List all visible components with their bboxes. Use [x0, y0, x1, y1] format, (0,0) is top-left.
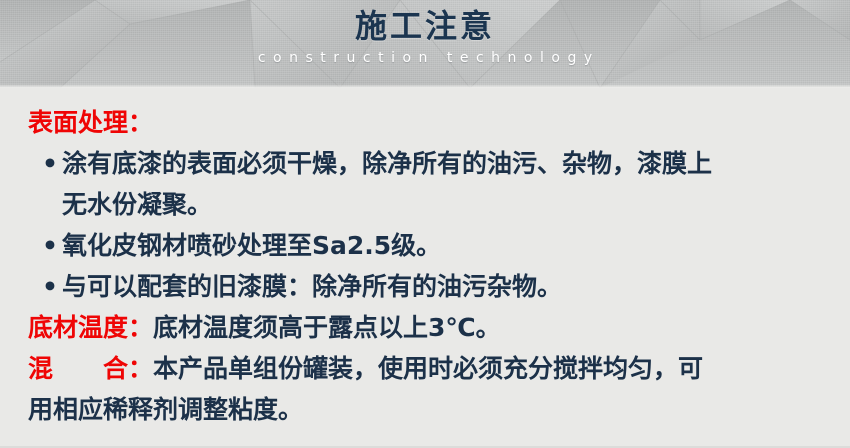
header-banner: 施工注意 construction technology [0, 0, 850, 88]
list-item: • 与可以配套的旧漆膜：除净所有的油污杂物。 [28, 266, 828, 307]
section-label-mixing-part2: 合： [103, 354, 153, 383]
list-item-continuation: 无水份凝聚。 [28, 184, 828, 225]
content-body: 表面处理： • 涂有底漆的表面必须干燥，除净所有的油污、杂物，漆膜上 无水份凝聚… [0, 88, 850, 448]
list-item-text-wrap: 无水份凝聚。 [62, 190, 212, 219]
list-item-text: 氧化皮钢材喷砂处理至Sa2.5级。 [62, 231, 441, 260]
banner-text-group: 施工注意 construction technology [0, 0, 850, 88]
list-item: • 氧化皮钢材喷砂处理至Sa2.5级。 [28, 225, 828, 266]
bullet-dot-icon: • [42, 143, 58, 184]
list-item: • 涂有底漆的表面必须干燥，除净所有的油污、杂物，漆膜上 [28, 143, 828, 184]
bullet-dot-icon: • [42, 225, 58, 266]
section-surface-treatment: 表面处理： • 涂有底漆的表面必须干燥，除净所有的油污、杂物，漆膜上 无水份凝聚… [28, 102, 828, 307]
banner-subtitle: construction technology [250, 50, 599, 67]
section-label-mixing-part1: 混 [28, 354, 53, 383]
section-body-mixing-line2: 用相应稀释剂调整粘度。 [28, 395, 303, 424]
section-label-substrate-temperature: 底材温度： [28, 313, 153, 342]
list-item-text: 与可以配套的旧漆膜：除净所有的油污杂物。 [62, 272, 562, 301]
banner-title: 施工注意 [355, 9, 495, 45]
section-mixing-line-1: 混合：本产品单组份罐装，使用时必须充分搅拌均匀，可 [28, 348, 828, 389]
section-mixing-line-2: 用相应稀释剂调整粘度。 [28, 389, 828, 430]
section-substrate-temperature: 底材温度：底材温度须高于露点以上3℃。 [28, 307, 828, 348]
section-body-substrate-temperature: 底材温度须高于露点以上3℃。 [153, 313, 501, 342]
section-mixing: 混合：本产品单组份罐装，使用时必须充分搅拌均匀，可 用相应稀释剂调整粘度。 [28, 348, 828, 430]
list-item-text: 涂有底漆的表面必须干燥，除净所有的油污、杂物，漆膜上 [62, 149, 712, 178]
bullet-dot-icon: • [42, 266, 58, 307]
section-heading-surface-treatment: 表面处理： [28, 102, 828, 143]
slide-root: 施工注意 construction technology 表面处理： • 涂有底… [0, 0, 850, 448]
section-body-mixing-line1: 本产品单组份罐装，使用时必须充分搅拌均匀，可 [153, 354, 703, 383]
